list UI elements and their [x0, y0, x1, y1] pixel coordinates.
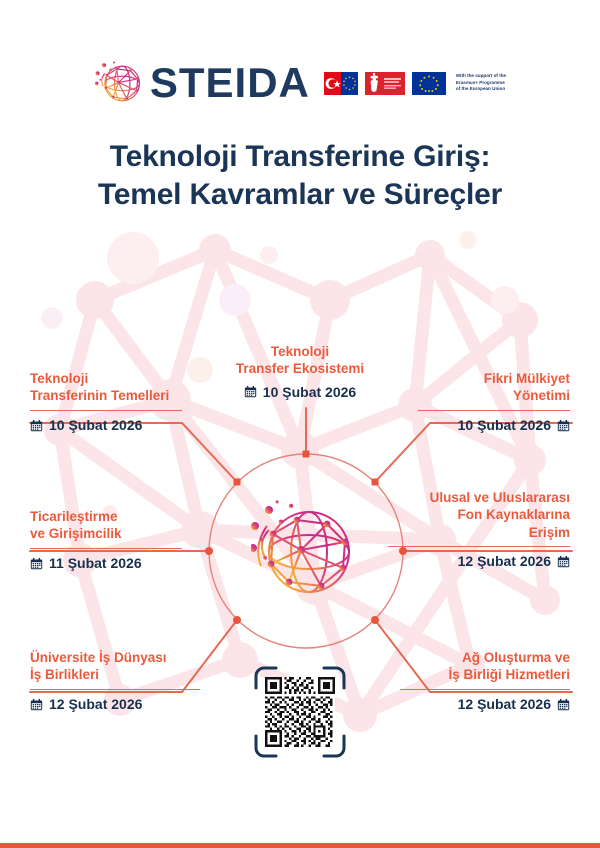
title-line-1: Teknoloji Transferine Giriş:: [0, 138, 600, 176]
session-date-text: 11 Şubat 2026: [49, 555, 142, 571]
brand-name: STEIDA: [150, 62, 310, 104]
calendar-icon: [30, 698, 43, 711]
session-fikri-mulkiyet-yonetimi[interactable]: Fikri Mülkiyet Yönetimi 10 Şubat 2026: [418, 370, 570, 433]
session-universite-is-dunyasi-is-birlikleri[interactable]: Üniversite İş Dünyası İş Birlikleri 12: [30, 649, 200, 712]
session-date-text: 10 Şubat 2026: [263, 384, 356, 400]
poster-header: STEIDA: [0, 52, 600, 114]
turkey-eu-flag-icon: [324, 72, 358, 95]
session-date: 10 Şubat 2026: [418, 417, 570, 433]
qr-code-icon: [265, 677, 335, 747]
calendar-icon: [30, 557, 43, 570]
page-title: Teknoloji Transferine Giriş: Temel Kavra…: [0, 138, 600, 215]
calendar-icon: [557, 419, 570, 432]
session-title-line-1: Üniversite İş Dünyası: [30, 649, 200, 666]
funding-logos: With the support of the Erasmus+ Program…: [324, 72, 506, 95]
eu-flag-icon: [412, 72, 446, 95]
session-title-line-2: İş Birlikleri: [30, 666, 200, 683]
eu-support-text: With the support of the Erasmus+ Program…: [456, 73, 506, 93]
session-title: Üniversite İş Dünyası İş Birlikleri: [30, 649, 200, 684]
session-ag-olusturma-ve-is-birligi-hizmetleri[interactable]: Ağ Oluşturma ve İş Birliği Hizmetleri 12…: [400, 649, 570, 712]
session-title-line-1: Teknoloji: [203, 343, 397, 360]
bottom-accent-bar: [0, 843, 600, 848]
session-title-line-3: Erişim: [388, 524, 570, 541]
network-globe-icon: [94, 58, 144, 108]
network-globe-icon: [251, 496, 361, 606]
session-ulusal-ve-uluslararasi-fon-kaynaklarina-erisim[interactable]: Ulusal ve Uluslararası Fon Kaynaklarına …: [388, 489, 570, 569]
session-date: 10 Şubat 2026: [203, 384, 397, 400]
session-date-text: 10 Şubat 2026: [49, 417, 142, 433]
session-divider: [388, 546, 570, 548]
session-divider: [400, 689, 570, 691]
session-date: 12 Şubat 2026: [388, 553, 570, 569]
session-title-line-1: Fikri Mülkiyet: [418, 370, 570, 387]
session-teknoloji-transferinin-temelleri[interactable]: Teknoloji Transferinin Temelleri 10 Şub: [30, 370, 182, 433]
brand-logo: STEIDA: [94, 58, 310, 108]
session-title: Ulusal ve Uluslararası Fon Kaynaklarına …: [388, 489, 570, 541]
session-date: 10 Şubat 2026: [30, 417, 182, 433]
qr-code-block[interactable]: [252, 664, 348, 760]
session-date-text: 12 Şubat 2026: [458, 553, 551, 569]
session-title-line-1: Ağ Oluşturma ve: [400, 649, 570, 666]
session-title-line-2: Transferinin Temelleri: [30, 387, 182, 404]
calendar-icon: [557, 698, 570, 711]
title-line-2: Temel Kavramlar ve Süreçler: [0, 176, 600, 214]
session-title: Teknoloji Transferinin Temelleri: [30, 370, 182, 405]
session-title-line-2: Yönetimi: [418, 387, 570, 404]
calendar-icon: [557, 555, 570, 568]
session-title-line-1: Teknoloji: [30, 370, 182, 387]
session-title-line-1: Ticarileştirme: [30, 508, 182, 525]
calendar-icon: [244, 385, 257, 398]
session-date: 11 Şubat 2026: [30, 555, 182, 571]
session-date: 12 Şubat 2026: [30, 696, 200, 712]
session-title-line-2: İş Birliği Hizmetleri: [400, 666, 570, 683]
session-date-text: 12 Şubat 2026: [49, 696, 142, 712]
eu-support-line-1: With the support of the: [456, 73, 506, 80]
session-title-line-2: Fon Kaynaklarına: [388, 506, 570, 523]
calendar-icon: [30, 419, 43, 432]
session-date: 12 Şubat 2026: [400, 696, 570, 712]
session-title: Ağ Oluşturma ve İş Birliği Hizmetleri: [400, 649, 570, 684]
session-title-line-1: Ulusal ve Uluslararası: [388, 489, 570, 506]
session-divider: [30, 689, 200, 691]
session-title: Fikri Mülkiyet Yönetimi: [418, 370, 570, 405]
session-title: Teknoloji Transfer Ekosistemi: [203, 343, 397, 378]
poster: STEIDA: [0, 0, 600, 848]
session-date-text: 12 Şubat 2026: [458, 696, 551, 712]
session-ticarilestirme-ve-girisimcilik[interactable]: Ticarileştirme ve Girişimcilik 11 Şubat: [30, 508, 182, 571]
session-divider: [418, 410, 570, 412]
session-divider: [30, 410, 182, 412]
session-title: Ticarileştirme ve Girişimcilik: [30, 508, 182, 543]
eu-support-line-3: of the European Union: [456, 86, 506, 93]
session-divider: [30, 548, 182, 550]
session-date-text: 10 Şubat 2026: [458, 417, 551, 433]
turkish-ministry-icon: [365, 72, 405, 95]
session-title-line-2: ve Girişimcilik: [30, 525, 182, 542]
session-teknoloji-transfer-ekosistemi[interactable]: Teknoloji Transfer Ekosistemi 10 Şubat 2…: [203, 343, 397, 400]
session-title-line-2: Transfer Ekosistemi: [203, 360, 397, 377]
eu-support-line-2: Erasmus+ Programme: [456, 80, 506, 87]
